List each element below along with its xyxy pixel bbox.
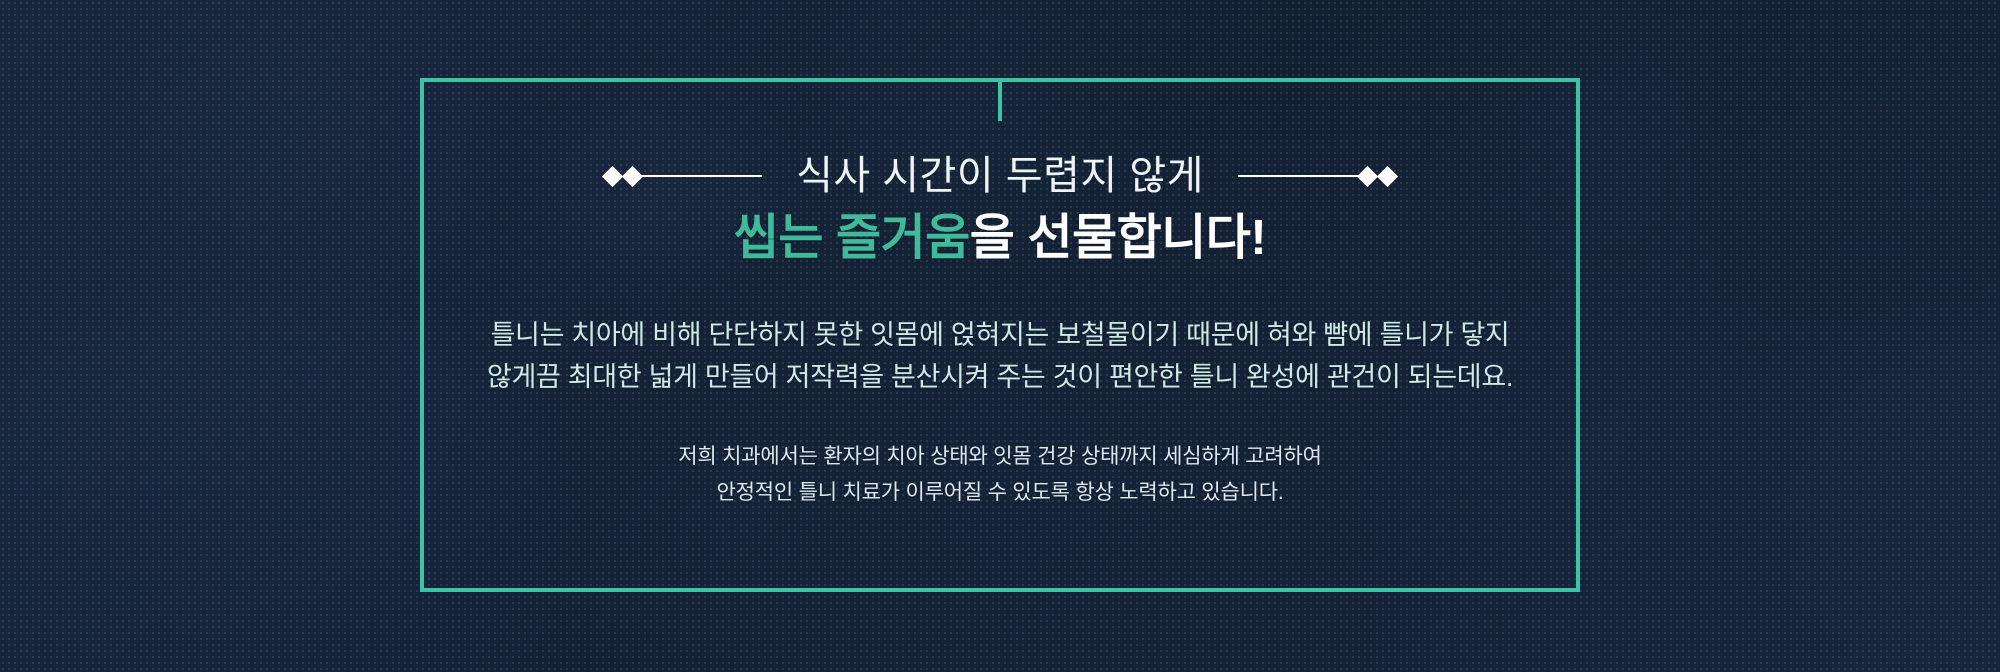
primary-paragraph-line: 않게끔 최대한 넓게 만들어 저작력을 분산시켜 주는 것이 편안한 틀니 완성… — [487, 356, 1513, 399]
secondary-paragraph-line: 안정적인 틀니 치료가 이루어질 수 있도록 항상 노력하고 있습니다. — [678, 475, 1321, 511]
headline-accent-text: 씹는 즐거움 — [734, 211, 970, 265]
eyebrow-text: 식사 시간이 두렵지 않게 — [762, 156, 1238, 196]
banner-content: 식사 시간이 두렵지 않게 씹는 즐거움을 선물합니다! 틀니는 치아에 비해 … — [420, 78, 1580, 592]
left-rule-divider — [640, 175, 762, 177]
eyebrow-row: 식사 시간이 두렵지 않게 — [420, 156, 1580, 196]
primary-paragraph-line: 틀니는 치아에 비해 단단하지 못한 잇몸에 얹혀지는 보철물이기 때문에 혀와… — [487, 314, 1513, 357]
primary-paragraph: 틀니는 치아에 비해 단단하지 못한 잇몸에 얹혀지는 보철물이기 때문에 혀와… — [487, 314, 1513, 399]
right-diamond-group — [1360, 169, 1395, 184]
diamond-icon — [622, 165, 643, 186]
left-diamond-group — [605, 169, 640, 184]
headline-plain-text: 을 선물합니다! — [970, 211, 1266, 265]
secondary-paragraph: 저희 치과에서는 환자의 치아 상태와 잇몸 건강 상태까지 세심하게 고려하여… — [678, 439, 1321, 511]
diamond-icon — [602, 165, 623, 186]
secondary-paragraph-line: 저희 치과에서는 환자의 치아 상태와 잇몸 건강 상태까지 세심하게 고려하여 — [678, 439, 1321, 475]
right-rule-divider — [1238, 175, 1360, 177]
diamond-icon — [1357, 165, 1378, 186]
headline: 씹는 즐거움을 선물합니다! — [734, 210, 1266, 268]
promotional-banner: 식사 시간이 두렵지 않게 씹는 즐거움을 선물합니다! 틀니는 치아에 비해 … — [0, 0, 2000, 672]
diamond-icon — [1377, 165, 1398, 186]
